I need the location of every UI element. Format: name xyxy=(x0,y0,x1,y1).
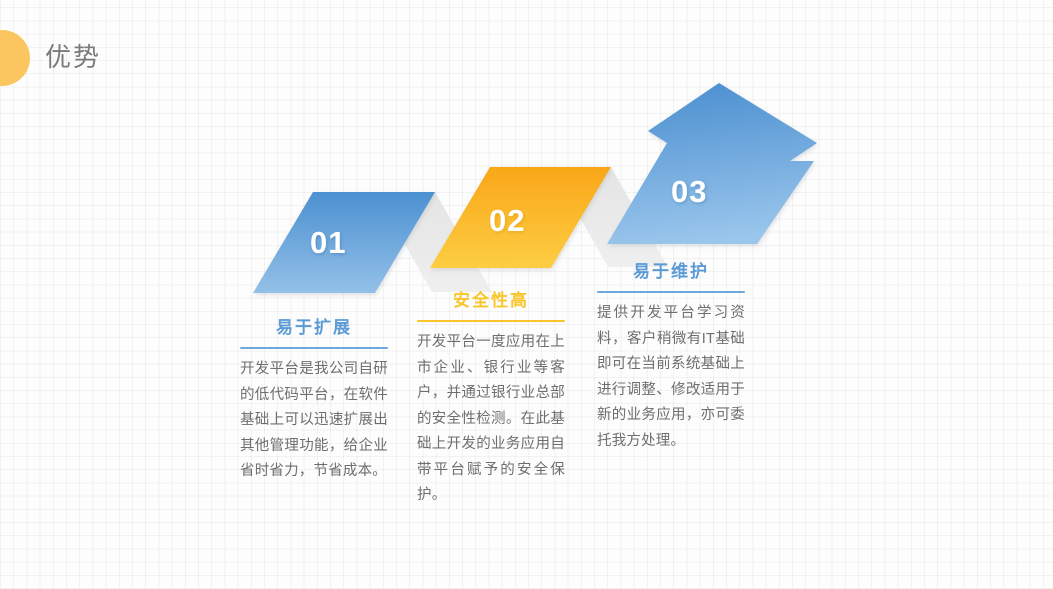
feature-heading-1: 易于扩展 xyxy=(240,316,388,340)
step-number-01: 01 xyxy=(310,225,346,260)
page-title: 优势 xyxy=(45,39,101,75)
feature-body-2: 开发平台一度应用在上市企业、银行业等客户，并通过银行业总部的安全性检测。在此基础… xyxy=(417,330,565,509)
step-shape-03 xyxy=(607,83,817,244)
slide-canvas: 优势 xyxy=(0,0,1053,589)
connector-1-2 xyxy=(375,192,492,292)
connector-2-3 xyxy=(551,167,668,267)
feature-column-1: 易于扩展 开发平台是我公司自研的低代码平台，在软件基础上可以迅速扩展出其他管理功… xyxy=(240,316,388,485)
step-number-02: 02 xyxy=(489,203,525,238)
feature-rule-3 xyxy=(597,291,745,293)
step-shape-01 xyxy=(253,192,435,293)
step-shape-02 xyxy=(430,167,611,268)
feature-body-3: 提供开发平台学习资料，客户稍微有IT基础即可在当前系统基础上进行调整、修改适用于… xyxy=(597,301,745,454)
feature-rule-2 xyxy=(417,320,565,322)
feature-body-1: 开发平台是我公司自研的低代码平台，在软件基础上可以迅速扩展出其他管理功能，给企业… xyxy=(240,357,388,485)
feature-column-2: 安全性高 开发平台一度应用在上市企业、银行业等客户，并通过银行业总部的安全性检测… xyxy=(417,289,565,509)
step-number-03: 03 xyxy=(671,174,707,209)
feature-heading-2: 安全性高 xyxy=(417,289,565,313)
feature-heading-3: 易于维护 xyxy=(597,260,745,284)
feature-rule-1 xyxy=(240,347,388,349)
yellow-circle-decoration xyxy=(0,30,30,86)
feature-column-3: 易于维护 提供开发平台学习资料，客户稍微有IT基础即可在当前系统基础上进行调整、… xyxy=(597,260,745,454)
